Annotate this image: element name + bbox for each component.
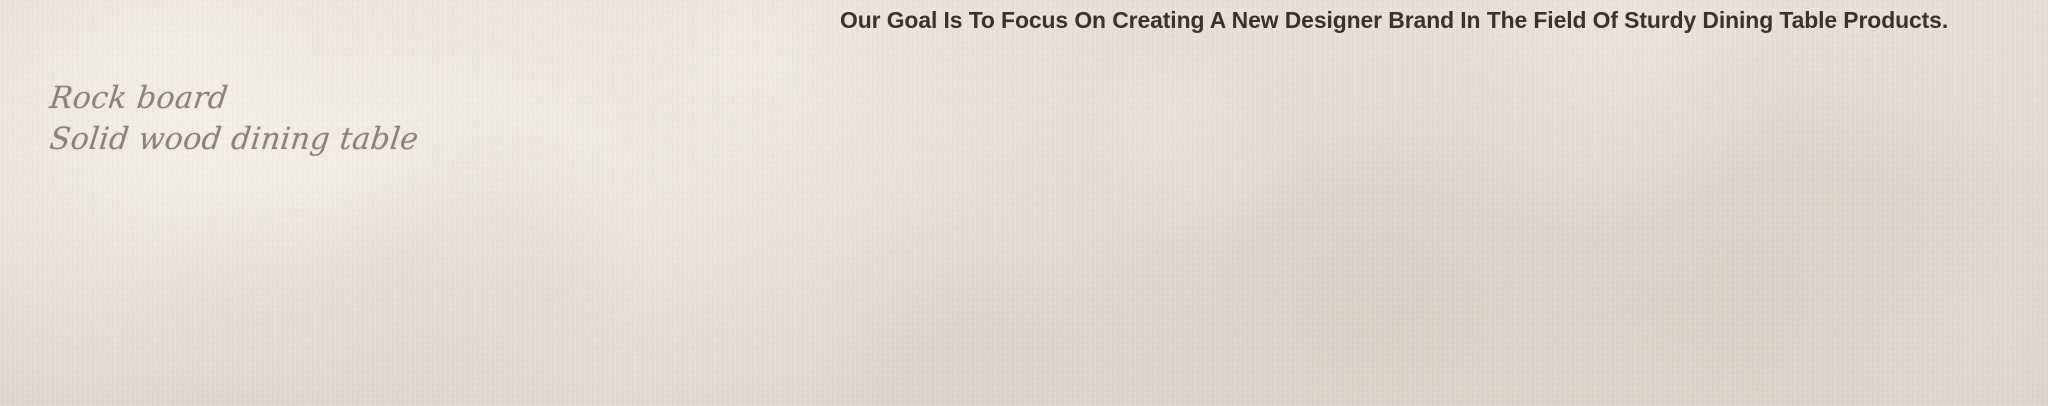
product-banner: Our Goal Is To Focus On Creating A New D… xyxy=(0,0,2048,406)
script-label-rock-board: Rock board xyxy=(48,83,420,114)
paper-texture-vignette xyxy=(0,0,2048,406)
banner-headline: Our Goal Is To Focus On Creating A New D… xyxy=(840,5,1948,37)
paper-texture-mottle xyxy=(0,0,2048,406)
script-label-solid-wood-dining-table: Solid wood dining table xyxy=(48,124,420,155)
paper-texture-base xyxy=(0,0,2048,406)
paper-texture-weave xyxy=(0,0,2048,406)
product-script-labels: Rock board Solid wood dining table xyxy=(48,84,417,155)
paper-texture-grain xyxy=(0,0,2048,406)
